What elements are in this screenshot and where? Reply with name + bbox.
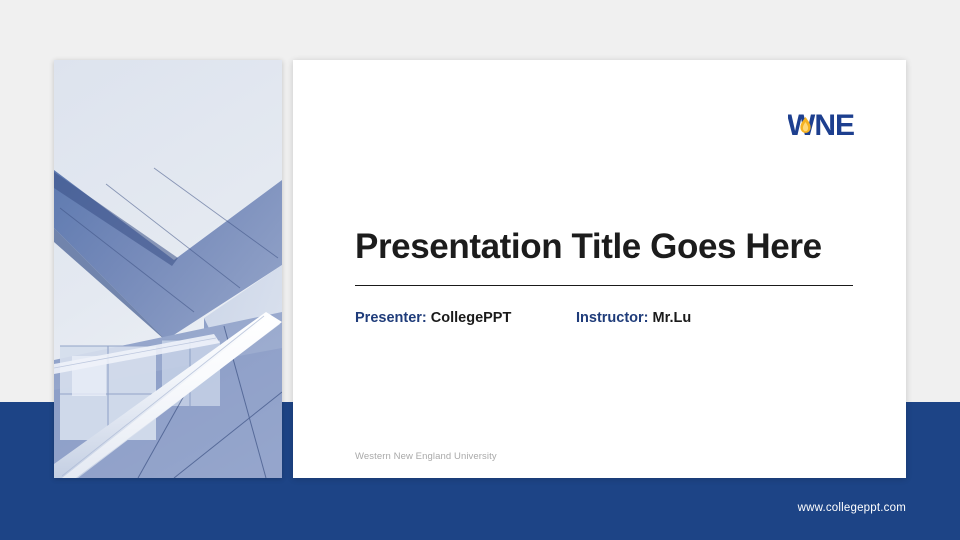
title-divider (355, 285, 853, 286)
university-name: Western New England University (355, 451, 497, 462)
slide-card: WNE Presentation Title Goes Here Present… (293, 60, 906, 478)
architectural-photo (54, 60, 282, 478)
presenter-field: Presenter: CollegePPT (355, 310, 511, 326)
wne-logo: WNE (788, 108, 880, 144)
presenter-label: Presenter: (355, 310, 427, 326)
presenter-value: CollegePPT (431, 310, 512, 326)
instructor-label: Instructor: (576, 310, 649, 326)
wne-logo-graphic: WNE (788, 108, 880, 144)
instructor-value: Mr.Lu (653, 310, 692, 326)
presentation-slide: www.collegeppt.com (0, 0, 960, 540)
page-title: Presentation Title Goes Here (355, 228, 865, 267)
wne-logo-text: WNE (788, 109, 854, 142)
architectural-photo-graphic (54, 60, 282, 478)
presentation-meta: Presenter: CollegePPT Instructor: Mr.Lu (355, 310, 875, 332)
website-url[interactable]: www.collegeppt.com (798, 502, 906, 514)
instructor-field: Instructor: Mr.Lu (576, 310, 691, 326)
